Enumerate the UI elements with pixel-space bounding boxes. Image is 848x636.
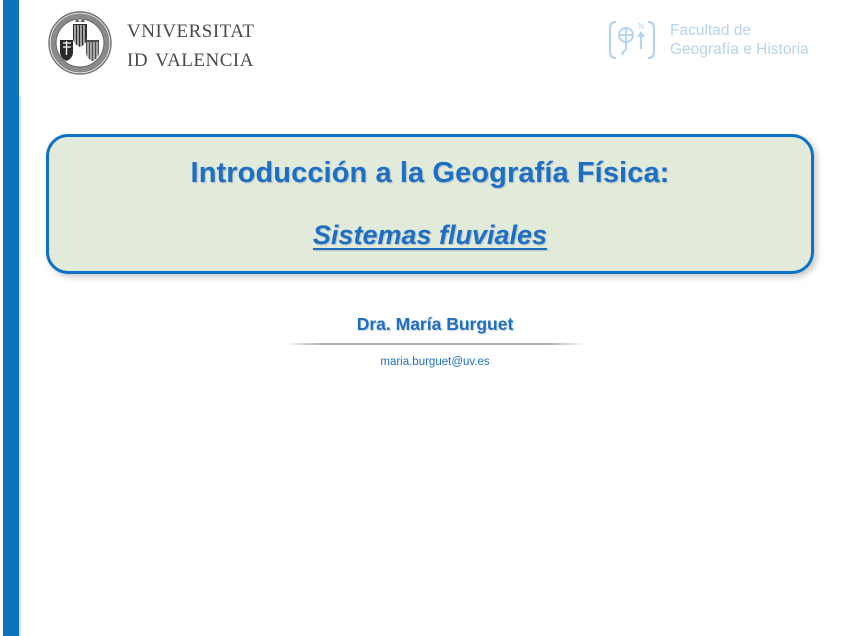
author-email[interactable]: maria.burguet@uv.es	[270, 356, 600, 368]
faculty-logo: N Facultad deGeografía e Historia	[604, 18, 809, 62]
svg-text:N: N	[638, 22, 644, 31]
faculty-line2: Geografía e Historia	[670, 41, 809, 58]
university-seal-icon	[47, 10, 113, 76]
presentation-slide: Vniversitat ID Valencia N Facultad deG	[0, 0, 848, 636]
author-block: Dra. María Burguet maria.burguet@uv.es	[270, 314, 600, 368]
faculty-line1: Facultad de	[670, 22, 751, 39]
university-logo: Vniversitat ID Valencia	[47, 10, 254, 76]
author-divider	[285, 343, 585, 345]
faculty-name: Facultad deGeografía e Historia	[670, 21, 809, 60]
compass-bracket-icon: N	[604, 18, 658, 62]
slide-header: Vniversitat ID Valencia N Facultad deG	[19, 0, 848, 96]
slide-title: Introducción a la Geografía Física:	[191, 157, 670, 190]
university-wordmark-line1: Vniversitat	[127, 15, 254, 42]
university-wordmark-line2: ID Valencia	[127, 44, 254, 71]
slide-subtitle[interactable]: Sistemas fluviales	[313, 220, 547, 251]
title-card: Introducción a la Geografía Física: Sist…	[46, 134, 814, 274]
author-name: Dra. María Burguet	[270, 314, 600, 335]
university-wordmark: Vniversitat ID Valencia	[127, 15, 254, 71]
photo-strip	[0, 444, 848, 604]
